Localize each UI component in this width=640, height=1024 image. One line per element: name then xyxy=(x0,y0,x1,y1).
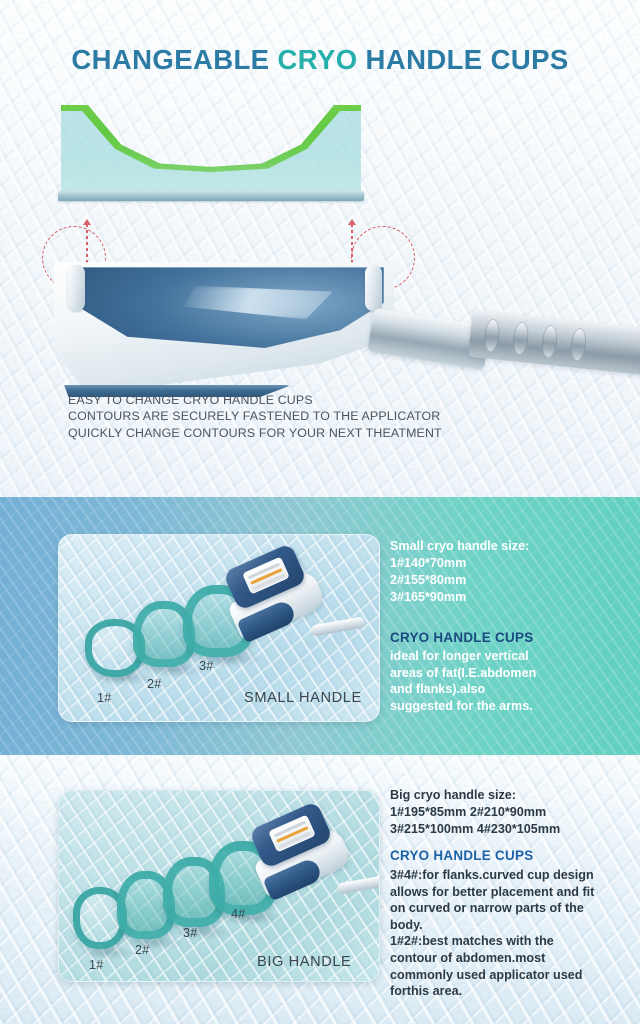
infographic-page: CHANGEABLE CRYO HANDLE CUPS xyxy=(0,0,640,1024)
hose-rib xyxy=(483,318,501,352)
big-cup-label-3: 3# xyxy=(183,926,198,940)
big-cup-label-1: 1# xyxy=(89,958,104,972)
page-title: CHANGEABLE CRYO HANDLE CUPS xyxy=(0,44,640,76)
big-section-heading: CRYO HANDLE CUPS xyxy=(390,848,533,863)
device-cable xyxy=(310,616,365,636)
applicator-graphic xyxy=(54,257,394,387)
green-cup-base-plate xyxy=(58,191,364,201)
big-cup-label-4: 4# xyxy=(231,907,246,921)
big-cryo-handle-sizes: Big cryo handle size: 1#195*85mm 2#210*9… xyxy=(390,787,560,838)
hero-caption: EASY TO CHANGE CRYO HANDLE CUPS CONTOURS… xyxy=(68,392,442,441)
big-cup-label-2: 2# xyxy=(135,943,150,957)
big-handle-photo-card: 1# 2# 3# 4# BIG HANDLE xyxy=(58,790,380,982)
device-cable xyxy=(336,874,380,894)
applicator-ribbed-hose xyxy=(468,310,640,375)
small-section-heading: CRYO HANDLE CUPS xyxy=(390,630,533,645)
hose-rib xyxy=(540,324,558,358)
page-title-part1: CHANGEABLE xyxy=(71,44,277,75)
hose-rib xyxy=(569,327,587,361)
green-cup-body xyxy=(61,105,361,191)
big-section-description: 3#4#:for flanks.curved cup design allows… xyxy=(390,867,594,1000)
page-title-accent: CRYO xyxy=(277,44,357,75)
small-cryo-handle-sizes: Small cryo handle size: 1#140*70mm 2#155… xyxy=(390,538,529,606)
applicator-clip-right xyxy=(365,265,382,311)
small-cup-label-1: 1# xyxy=(97,691,112,705)
product-photo-exploded-view xyxy=(40,102,640,374)
small-section-description: ideal for longer vertical areas of fat(I… xyxy=(390,648,536,714)
page-title-part2: HANDLE CUPS xyxy=(358,44,569,75)
hose-rib xyxy=(512,321,530,355)
hero-section: CHANGEABLE CRYO HANDLE CUPS xyxy=(0,0,640,497)
applicator-clip-left xyxy=(68,265,85,311)
small-handle-photo-card: 1# 2# 3# SMALL HANDLE xyxy=(58,534,380,722)
green-cryo-cup-graphic xyxy=(61,105,361,191)
small-handle-card-title: SMALL HANDLE xyxy=(244,690,362,706)
small-handpiece-device xyxy=(215,551,380,651)
small-cup-label-2: 2# xyxy=(147,677,162,691)
small-cup-label-3: 3# xyxy=(199,659,214,673)
big-handle-card-title: BIG HANDLE xyxy=(257,954,351,970)
big-handpiece-device xyxy=(241,809,380,909)
